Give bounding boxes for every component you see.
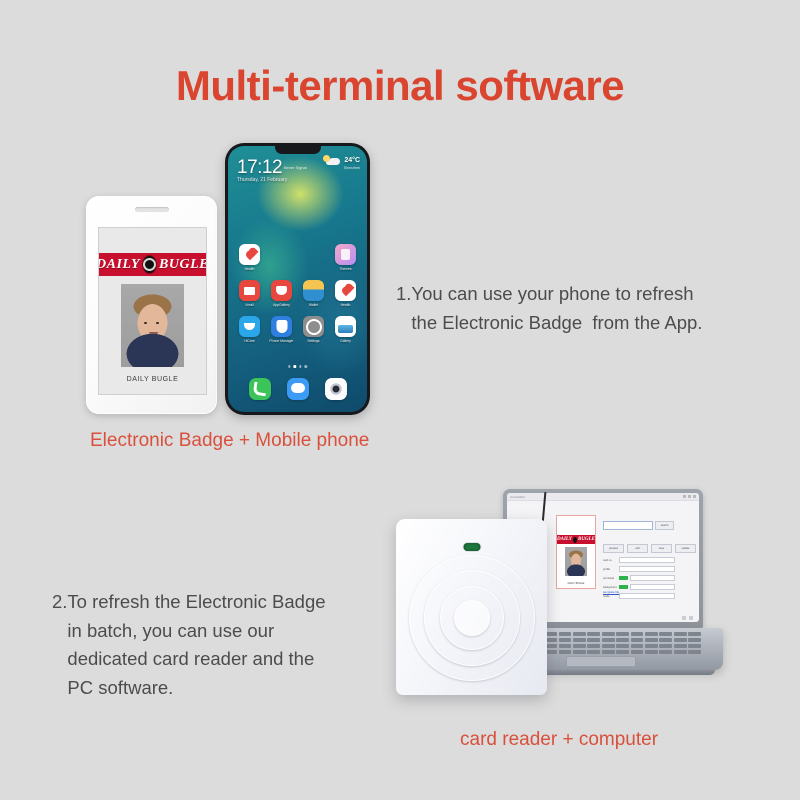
- software-statusbar: [682, 616, 696, 620]
- badge-eink-screen: DAILY BUGLE DAILY BUGLE: [98, 227, 207, 395]
- minimize-icon[interactable]: [683, 495, 686, 498]
- step-two-line-2: in batch, you can use our: [52, 617, 372, 646]
- maximize-icon[interactable]: [688, 495, 691, 498]
- app-label: AppGallery: [273, 303, 290, 307]
- badge-portrait-photo: [121, 284, 184, 367]
- software-toolbar: preview edit save update: [603, 544, 696, 553]
- app-icon-themes[interactable]: Themes: [331, 244, 360, 271]
- vmall-icon: [239, 280, 260, 301]
- field-input[interactable]: [630, 584, 675, 590]
- field-row-card-no: card no.: [603, 557, 675, 563]
- app-label: Themes: [339, 267, 351, 271]
- window-controls[interactable]: [683, 495, 696, 498]
- messages-icon[interactable]: [287, 378, 309, 400]
- page-dot-active: [293, 365, 296, 368]
- search-input[interactable]: [603, 521, 653, 530]
- software-badge-preview: DAILY BUGLE DAILY BUGLE: [556, 515, 596, 589]
- caption-badge-phone: Electronic Badge + Mobile phone: [90, 430, 430, 452]
- laptop-trackpad: [566, 656, 636, 667]
- preview-name-label: DAILY BUGLE: [557, 582, 595, 585]
- portrait-eye-right: [156, 322, 159, 324]
- status-chip: [619, 585, 628, 589]
- app-icon-settings[interactable]: Settings: [299, 316, 328, 343]
- field-label: port baud: [603, 577, 617, 580]
- field-input[interactable]: [619, 557, 675, 563]
- toolbar-button-save[interactable]: save: [651, 544, 672, 553]
- app-icon-hicare[interactable]: HiCare: [235, 316, 264, 343]
- step-two-text: 2.To refresh the Electronic Badge in bat…: [52, 588, 372, 703]
- nfc-ring-center: [454, 600, 490, 636]
- page-dot: [305, 365, 308, 368]
- app-label: HiCare: [244, 339, 255, 343]
- badge-brand-banner: DAILY BUGLE: [99, 253, 206, 276]
- appgallery-icon: [271, 280, 292, 301]
- badge-emblem-icon: [143, 256, 156, 273]
- app-icon-health[interactable]: Health: [235, 244, 264, 271]
- badge-brand-left: DAILY: [98, 257, 140, 273]
- toolbar-button-preview[interactable]: preview: [603, 544, 624, 553]
- app-slot-empty-2: [299, 244, 328, 271]
- phone-manager-icon: [271, 316, 292, 337]
- phone-icon[interactable]: [249, 378, 271, 400]
- app-icon-appgallery[interactable]: AppGallery: [267, 280, 296, 307]
- field-row-profile: profile: [603, 566, 675, 572]
- preview-brand-left: DAILY: [557, 537, 572, 542]
- page-dot: [299, 365, 302, 368]
- app-label: Vmall: [245, 303, 253, 307]
- status-icon: [689, 616, 693, 620]
- badge-lanyard-slot: [135, 207, 169, 212]
- app-label: Wallet: [309, 303, 318, 307]
- infographic-canvas: Multi-terminal software DAILY BUGLE DAIL…: [0, 0, 800, 800]
- search-button[interactable]: search: [655, 521, 674, 530]
- template-file-link[interactable]: template file: [603, 590, 619, 594]
- caption-reader-computer: card reader + computer: [460, 729, 780, 751]
- mobile-phone-device: 17:12 Bever Signal Thursday, 21 February…: [225, 143, 370, 415]
- app-slot-empty-1: [267, 244, 296, 271]
- preview-brand-right: BUGLE: [578, 537, 595, 542]
- phone-carrier-label: Bever Signal: [284, 165, 307, 170]
- step-one-text: 1.You can use your phone to refresh the …: [396, 280, 756, 337]
- status-chip: [619, 576, 628, 580]
- app-label: Settings: [307, 339, 319, 343]
- health-icon: [335, 280, 356, 301]
- status-icon: [682, 616, 686, 620]
- app-icon-gallery[interactable]: Gallery: [331, 316, 360, 343]
- step-one-line-1: 1.You can use your phone to refresh: [396, 280, 756, 309]
- step-two-line-3: dedicated card reader and the: [52, 645, 372, 674]
- app-label: Phone Manager: [269, 339, 293, 343]
- phone-clock: 17:12: [237, 157, 282, 179]
- settings-icon: [303, 316, 324, 337]
- camera-icon[interactable]: [325, 378, 347, 400]
- field-label: profile: [603, 568, 617, 571]
- page-title: Multi-terminal software: [0, 62, 800, 110]
- step-two-line-1: 2.To refresh the Electronic Badge: [52, 588, 372, 617]
- software-field-panel: card no. profile port baud background: [603, 557, 675, 602]
- phone-date-label: Thursday, 21 February: [237, 177, 287, 183]
- health-icon: [239, 244, 260, 265]
- portrait-mouth: [149, 332, 158, 334]
- field-label: background: [603, 586, 617, 589]
- preview-emblem-icon: [573, 537, 577, 543]
- card-reader-device: [396, 519, 547, 695]
- preview-portrait-photo: [565, 547, 587, 576]
- field-input[interactable]: [619, 566, 675, 572]
- software-titlebar: Card Editor: [507, 493, 699, 501]
- app-label: Health: [245, 267, 255, 271]
- field-label: mode: [603, 595, 617, 598]
- field-input[interactable]: [619, 593, 675, 599]
- toolbar-button-edit[interactable]: edit: [627, 544, 648, 553]
- step-one-line-2: the Electronic Badge from the App.: [396, 309, 756, 338]
- close-icon[interactable]: [693, 495, 696, 498]
- led-indicator-icon: [463, 543, 480, 551]
- app-icon-phone-manager[interactable]: Phone Manager: [267, 316, 296, 343]
- weather-cloud-icon: [329, 158, 340, 165]
- software-window-title: Card Editor: [510, 495, 525, 499]
- themes-icon: [335, 244, 356, 265]
- field-row-port-baud: port baud: [603, 575, 675, 581]
- app-icon-vmall[interactable]: Vmall: [235, 280, 264, 307]
- app-icon-wallet[interactable]: Wallet: [299, 280, 328, 307]
- phone-notch: [275, 146, 321, 154]
- gallery-icon: [335, 316, 356, 337]
- badge-name-label: DAILY BUGLE: [99, 376, 206, 383]
- field-label: card no.: [603, 559, 617, 562]
- app-label: Health: [341, 303, 351, 307]
- phone-dock: [228, 378, 367, 400]
- step-two-line-4: PC software.: [52, 674, 372, 703]
- page-dot: [288, 365, 291, 368]
- toolbar-button-update[interactable]: update: [675, 544, 696, 553]
- preview-brand-banner: DAILY BUGLE: [557, 535, 595, 544]
- wallet-icon: [303, 280, 324, 301]
- phone-weather-location: Shenzhen: [344, 166, 360, 170]
- app-label: Gallery: [340, 339, 351, 343]
- portrait-eye-left: [144, 322, 147, 324]
- phone-screen: 17:12 Bever Signal Thursday, 21 February…: [228, 146, 367, 412]
- phone-temperature: 24°C: [344, 157, 360, 164]
- app-icon-health-2[interactable]: Health: [331, 280, 360, 307]
- home-page-indicator: [288, 365, 307, 368]
- phone-app-grid: Health Themes Vmall AppGallery Wallet He…: [235, 244, 360, 343]
- badge-brand-right: BUGLE: [159, 257, 207, 273]
- electronic-badge-device: DAILY BUGLE DAILY BUGLE: [86, 196, 217, 414]
- field-input[interactable]: [630, 575, 675, 581]
- hicare-icon: [239, 316, 260, 337]
